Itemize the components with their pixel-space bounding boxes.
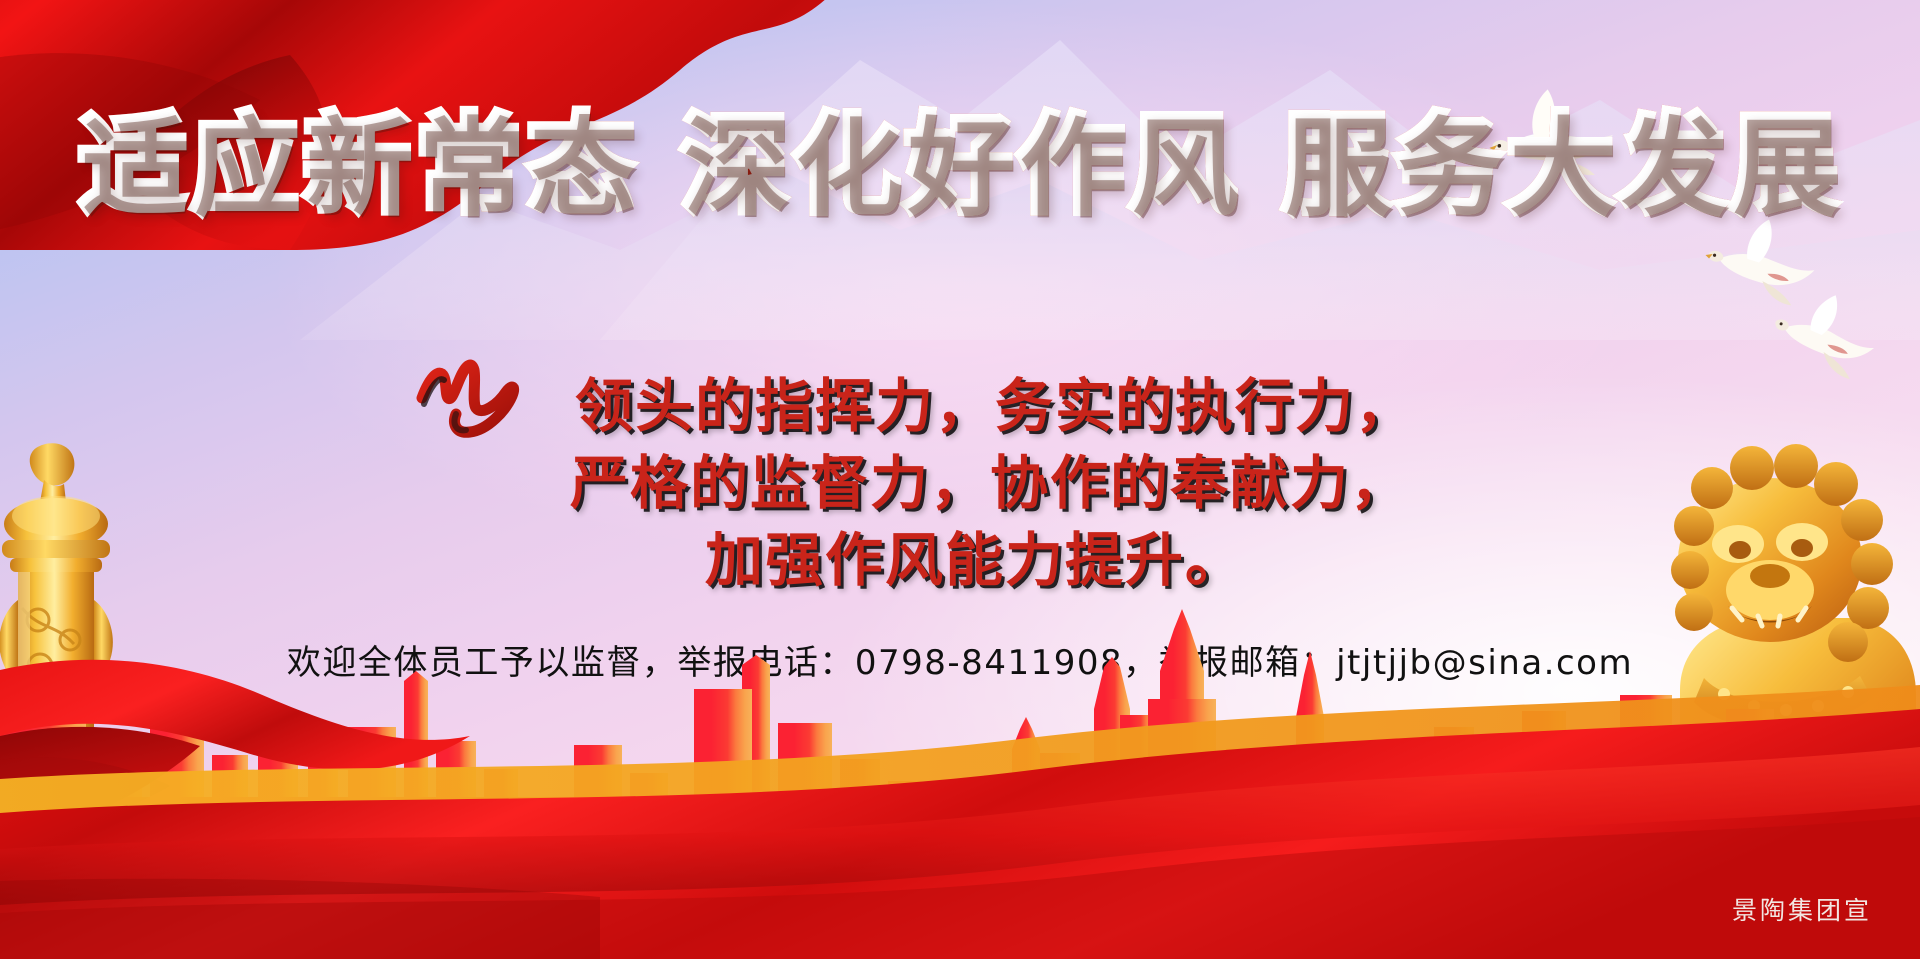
- headline-text: 适应新常态 深化好作风 服务大发展: [78, 103, 1841, 228]
- publisher-signature: 景陶集团宣: [1732, 891, 1872, 927]
- page-title: 适应新常态 深化好作风 服务大发展: [0, 112, 1920, 220]
- propaganda-poster: 适应新常态 深化好作风 服务大发展 领头的指挥力，务实的执行力， 严格的监督力，…: [0, 0, 1920, 959]
- red-silk-ribbon-icon: [0, 629, 1920, 959]
- slogan-line-1: 领头的指挥力，务实的执行力，: [0, 368, 1920, 445]
